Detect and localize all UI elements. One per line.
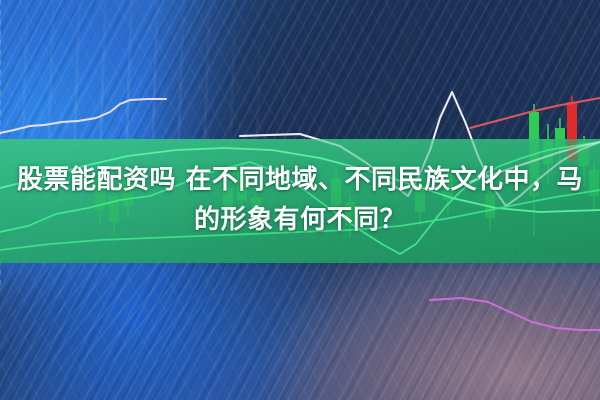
series-line: [0, 99, 166, 133]
series-line: [430, 298, 600, 330]
headline-line-2: 的形象有何不同？: [0, 200, 600, 240]
candle-body: [555, 128, 565, 148]
candle-body: [567, 102, 577, 160]
headline-line-1: 股票能配资吗 在不同地域、不同民族文化中，马: [0, 160, 600, 200]
headline-text: 股票能配资吗 在不同地域、不同民族文化中，马 的形象有何不同？: [0, 160, 600, 240]
banner-image: 股票能配资吗 在不同地域、不同民族文化中，马 的形象有何不同？: [0, 0, 600, 400]
